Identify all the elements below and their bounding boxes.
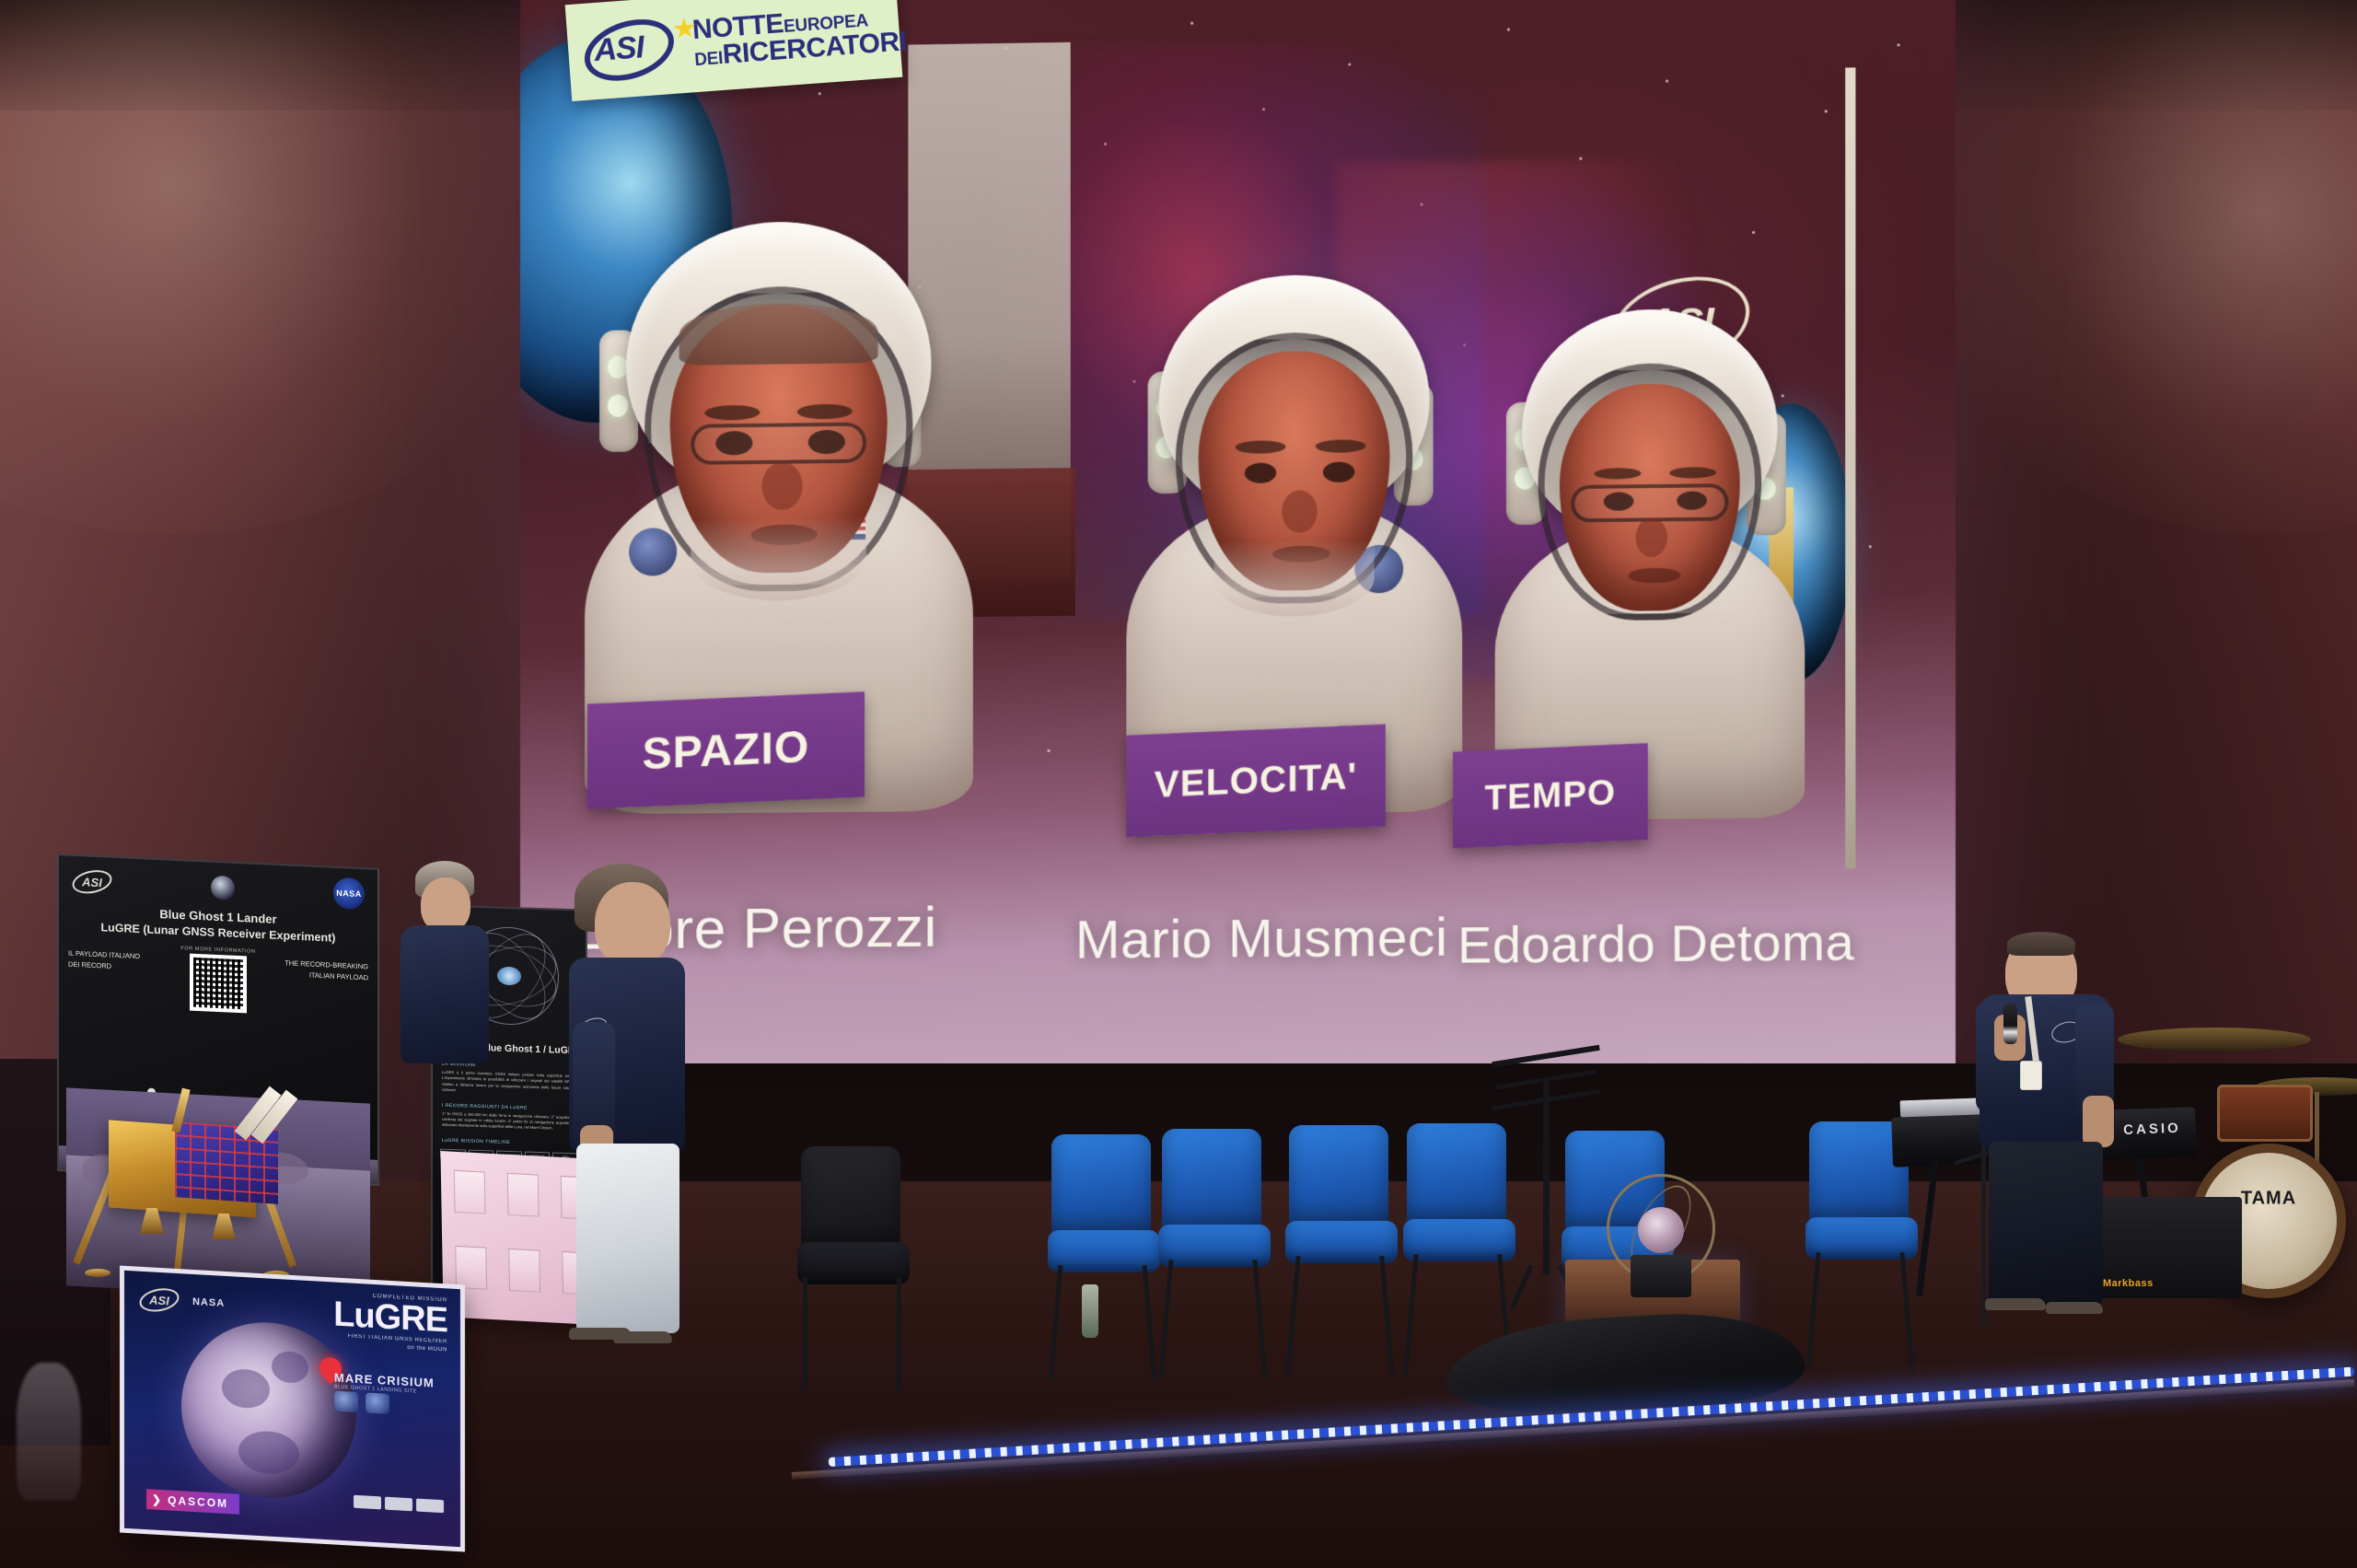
music-stand-tray xyxy=(1492,1045,1599,1067)
background-person-torso xyxy=(401,925,489,1063)
qascom-label: QASCOM xyxy=(168,1493,228,1510)
moon-mare xyxy=(272,1351,308,1384)
nasa-icon: NASA xyxy=(333,877,365,911)
presenter-left-legs xyxy=(576,1144,679,1333)
chair-seat xyxy=(797,1242,910,1284)
presenter-right xyxy=(1980,930,2200,1326)
chair-back xyxy=(1289,1125,1388,1228)
partner-logo-icon xyxy=(354,1495,381,1510)
presenter-right-microphone[interactable] xyxy=(2003,1004,2017,1044)
firefly-icon xyxy=(211,876,235,900)
music-stand-pole xyxy=(1543,1077,1550,1275)
caption-label-spazio: SPAZIO xyxy=(643,721,810,779)
presenter-right-shoe xyxy=(2046,1302,2103,1314)
presenter-right-badge xyxy=(2020,1061,2042,1090)
rack-tom xyxy=(2217,1085,2313,1142)
caption-plate-tempo: TEMPO xyxy=(1453,743,1648,848)
nose-3 xyxy=(1635,517,1667,557)
qascom-mark-icon: ❯ xyxy=(152,1493,163,1506)
chair-back xyxy=(801,1146,900,1249)
stage-photo-scene: ASI Agenzia Spaziale Italiana xyxy=(0,0,2357,1568)
globe-sphere xyxy=(1638,1207,1684,1253)
drum-brand-label: TAMA xyxy=(2241,1189,2296,1210)
chair-leg xyxy=(803,1277,807,1391)
mission-patch-1 xyxy=(629,528,677,576)
mission-badge-icon xyxy=(366,1392,389,1413)
panel-cell xyxy=(508,1249,540,1293)
presenter-right-hair xyxy=(2007,932,2075,956)
presenter-left-head xyxy=(595,882,670,967)
asi-icon-text: ASI xyxy=(139,1288,180,1312)
astronaut-portrait-3 xyxy=(1448,259,1852,821)
poster-text-english: THE RECORD-BREAKING ITALIAN PAYLOAD xyxy=(284,958,368,983)
asi-icon-text: ASI xyxy=(72,870,112,894)
panel-cell xyxy=(454,1170,486,1214)
moon-graphic xyxy=(181,1318,356,1503)
qr-code[interactable] xyxy=(190,954,247,1014)
lander-footpad xyxy=(85,1269,110,1277)
presenter-right-legs xyxy=(1989,1142,2103,1306)
panel-cell xyxy=(455,1246,487,1290)
presenter-right-forearm xyxy=(2083,1096,2114,1147)
mission-badge-icon xyxy=(334,1391,358,1412)
moon-mare xyxy=(222,1368,270,1410)
speaker-name-3: Edoardo Detoma xyxy=(1457,912,1854,975)
presenter-left xyxy=(552,856,737,1381)
caption-label-tempo: TEMPO xyxy=(1484,773,1616,819)
caption-label-velocita: VELOCITA' xyxy=(1155,755,1358,806)
notte-banner-text: NOTTE EUROPEA DEI RICERCATORI xyxy=(691,3,907,70)
moon-mare xyxy=(238,1430,299,1476)
lugre-partner-credits xyxy=(354,1495,444,1513)
music-stand-leg xyxy=(1510,1264,1534,1310)
asi-icon: ASI xyxy=(72,870,112,894)
lugre-mission-badges xyxy=(334,1391,389,1414)
caption-plate-velocita: VELOCITA' xyxy=(1126,724,1386,837)
speaker-name-2: Mario Musmeci xyxy=(1075,906,1448,970)
nasa-icon-text: NASA xyxy=(336,889,362,899)
glasses-3 xyxy=(1571,483,1728,522)
background-figure-silhouette xyxy=(17,1363,81,1501)
lugre-agency-logos: ASI NASA xyxy=(139,1288,225,1315)
nose-1 xyxy=(761,461,802,510)
lugre-heading-block: COMPLETED MISSION LuGRE FIRST ITALIAN GN… xyxy=(333,1292,447,1355)
water-bottle xyxy=(1082,1284,1098,1338)
background-person xyxy=(391,861,502,1073)
asi-banner-logo-icon: ASI ★ xyxy=(579,10,683,87)
chair-back xyxy=(1162,1129,1261,1232)
presenter-left-shoe xyxy=(613,1331,672,1343)
partner-logo-icon xyxy=(416,1499,444,1514)
asi-banner-text: ASI xyxy=(593,29,644,69)
notte-word-dei: DEI xyxy=(694,50,724,68)
presenter-right-shoe xyxy=(1985,1298,2046,1310)
caption-plate-spazio: SPAZIO xyxy=(587,691,865,808)
poster-text-italian: IL PAYLOAD ITALIANO DEI RECORD xyxy=(68,948,153,973)
background-person-head xyxy=(421,877,470,933)
globe-base xyxy=(1631,1255,1691,1297)
glasses-1 xyxy=(691,422,866,464)
asi-icon: ASI xyxy=(139,1288,180,1312)
nasa-wordmark: NASA xyxy=(192,1296,225,1309)
panel-cell xyxy=(507,1173,540,1217)
chair-leg xyxy=(897,1277,901,1393)
nose-2 xyxy=(1282,490,1318,533)
chair-back xyxy=(1051,1134,1151,1237)
qascom-logo: ❯ QASCOM xyxy=(146,1489,239,1515)
partner-logo-icon xyxy=(385,1497,412,1512)
lugre-display-panel: ASI NASA COMPLETED MISSION LuGRE FIRST I… xyxy=(120,1266,465,1552)
